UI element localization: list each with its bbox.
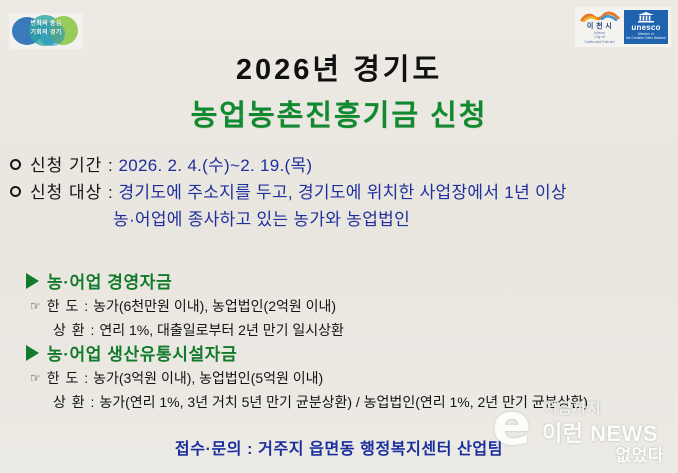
unesco-sub-2: the Creative Cities Network	[624, 36, 668, 40]
program-1-heading: 농·어업 경영자금	[47, 268, 172, 293]
program-2-limit-row: ☞ 한 도 : 농가(3억원 이내), 농업법인(5억원 이내)	[26, 368, 666, 389]
program-2-repay-key: 상 환 :	[53, 392, 95, 413]
program-2-heading-row: 농·어업 생산유통시설자금	[26, 340, 666, 365]
unesco-wordmark: unesco	[624, 23, 668, 32]
triangle-bullet-icon	[26, 273, 39, 289]
program-1-limit-key: 한 도 :	[47, 296, 89, 317]
poster-title-sub: 농업농촌진흥기금 신청	[0, 92, 678, 134]
info-row-target: 신청 대상 : 경기도에 주소지를 두고, 경기도에 위치한 사업장에서 1년 …	[10, 179, 674, 206]
info-row-period: 신청 기간 : 2026. 2. 4.(수)~2. 19.(목)	[10, 152, 674, 179]
target-value-line1: 경기도에 주소지를 두고, 경기도에 위치한 사업장에서 1년 이상	[118, 179, 566, 206]
program-2-repay-row: 상 환 : 농가(연리 1%, 3년 거치 5년 만기 균분상환) / 농업법인…	[26, 392, 666, 413]
program-2-limit-key: 한 도 :	[47, 368, 89, 389]
circle-bullet-icon	[10, 186, 21, 197]
unesco-temple-icon	[637, 12, 655, 23]
gyeonggi-logo-line1: 변화의 중심	[9, 20, 83, 29]
period-value: 2026. 2. 4.(수)~2. 19.(목)	[118, 152, 312, 179]
target-value-line2: 농·어업에 종사하고 있는 농가와 농업법인	[113, 206, 674, 233]
program-section-2: 농·어업 생산유통시설자금 ☞ 한 도 : 농가(3억원 이내), 농업법인(5…	[26, 340, 666, 413]
icheon-city-logo: 이 천 시 Icheon City of Crafts and Folk Art	[578, 10, 621, 44]
gyeonggi-logo-text: 변화의 중심 기회의 경기	[9, 20, 83, 38]
program-1-limit-value: 농가(6천만원 이내), 농업법인(2억원 이내)	[93, 296, 336, 317]
poster-canvas: 변화의 중심 기회의 경기 이 천 시 Icheon City of Craft…	[0, 0, 678, 473]
pointing-hand-icon: ☞	[30, 296, 41, 317]
icheon-arc-icon	[580, 11, 620, 22]
program-section-1: 농·어업 경영자금 ☞ 한 도 : 농가(6천만원 이내), 농업법인(2억원 …	[26, 268, 666, 341]
gyeonggi-logo-line2: 기회의 경기	[9, 29, 83, 38]
pointing-hand-icon: ☞	[30, 368, 41, 389]
program-1-limit-row: ☞ 한 도 : 농가(6천만원 이내), 농업법인(2억원 이내)	[26, 296, 666, 317]
program-1-heading-row: 농·어업 경영자금	[26, 268, 666, 293]
program-2-limit-value: 농가(3억원 이내), 농업법인(5억원 이내)	[93, 368, 323, 389]
gyeonggi-logo: 변화의 중심 기회의 경기	[9, 13, 83, 49]
program-1-repay-value: 연리 1%, 대출일로부터 2년 만기 일시상환	[99, 320, 344, 341]
unesco-logo: unesco Member of the Creative Cities Net…	[624, 10, 668, 44]
program-1-repay-key: 상 환 :	[53, 320, 95, 341]
program-2-heading: 농·어업 생산유통시설자금	[47, 340, 237, 365]
icheon-name: 이 천 시	[578, 22, 621, 31]
period-label: 신청 기간 :	[30, 152, 114, 179]
circle-bullet-icon	[10, 159, 21, 170]
triangle-bullet-icon	[26, 345, 39, 361]
contact-footer: 접수·문의 : 거주지 읍면동 행정복지센터 산업팀	[0, 435, 678, 459]
icheon-sub-3: Crafts and Folk Art	[578, 40, 621, 44]
partner-logos: 이 천 시 Icheon City of Crafts and Folk Art…	[575, 7, 671, 47]
poster-title-main: 2026년 경기도	[0, 46, 678, 88]
info-block: 신청 기간 : 2026. 2. 4.(수)~2. 19.(목) 신청 대상 :…	[10, 152, 674, 233]
program-1-repay-row: 상 환 : 연리 1%, 대출일로부터 2년 만기 일시상환	[26, 320, 666, 341]
program-2-repay-value: 농가(연리 1%, 3년 거치 5년 만기 균분상환) / 농업법인(연리 1%…	[99, 392, 588, 413]
target-label: 신청 대상 :	[30, 179, 114, 206]
